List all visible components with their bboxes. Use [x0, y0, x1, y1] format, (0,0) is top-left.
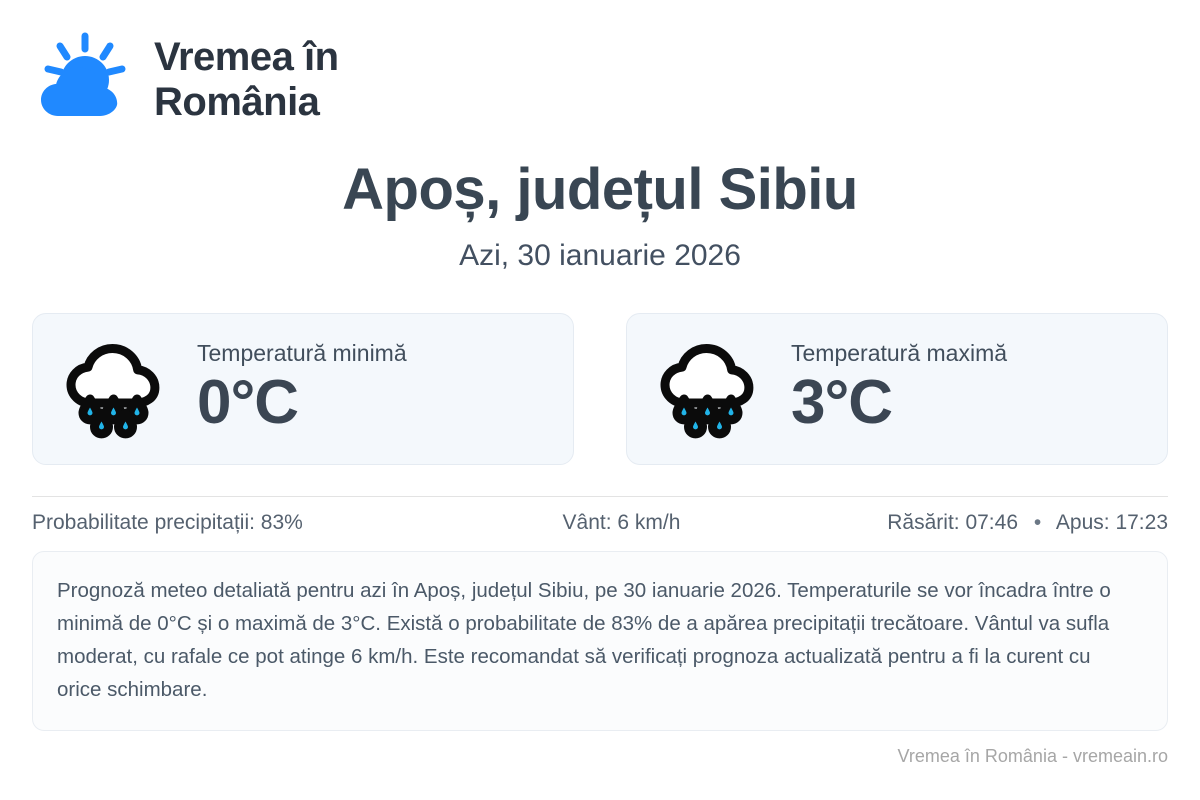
footer-credit: Vremea în România - vremeain.ro: [898, 746, 1168, 767]
card-label: Temperatură maximă: [791, 341, 1007, 366]
weather-page: Vremea în România Apoș, județul Sibiu Az…: [0, 0, 1200, 800]
page-title: Apoș, județul Sibiu: [32, 160, 1168, 221]
forecast-description-text: Prognoză meteo detaliată pentru azi în A…: [57, 574, 1117, 706]
stat-sunrise: Răsărit: 07:46: [887, 511, 1018, 534]
brand-header: Vremea în România: [32, 0, 1168, 112]
sun-behind-cloud-icon: [32, 28, 136, 132]
section-divider: [32, 496, 1168, 497]
card-text-block: Temperatură minimă 0°C: [197, 341, 407, 438]
brand-name: Vremea în România: [154, 35, 339, 125]
card-value: 0°C: [197, 368, 407, 437]
forecast-description-panel: Prognoză meteo detaliată pentru azi în A…: [32, 551, 1168, 731]
card-text-block: Temperatură maximă 3°C: [791, 341, 1007, 438]
stat-wind: Vânt: 6 km/h: [555, 511, 888, 535]
stat-sun-times: Răsărit: 07:46 • Apus: 17:23: [887, 511, 1168, 535]
card-value: 3°C: [791, 368, 1007, 437]
bullet-separator-icon: •: [1034, 511, 1041, 535]
rain-cloud-icon: [59, 337, 171, 441]
temperature-cards: Temperatură minimă 0°C: [32, 313, 1168, 465]
card-label: Temperatură minimă: [197, 341, 407, 366]
stats-row: Probabilitate precipitații: 83% Vânt: 6 …: [32, 511, 1168, 535]
date-label: Azi, 30 ianuarie 2026: [32, 239, 1168, 273]
stat-sunset: Apus: 17:23: [1056, 511, 1168, 534]
card-temperature-max: Temperatură maximă 3°C: [626, 313, 1168, 465]
stat-precipitation: Probabilitate precipitații: 83%: [32, 511, 555, 535]
rain-cloud-icon: [653, 337, 765, 441]
card-temperature-min: Temperatură minimă 0°C: [32, 313, 574, 465]
